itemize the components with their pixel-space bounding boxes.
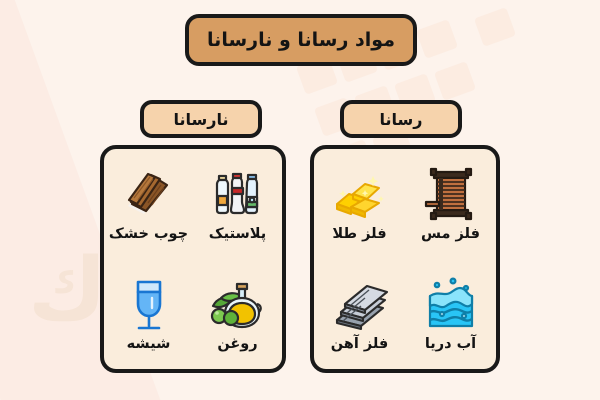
item-label: فلز آهن: [331, 336, 389, 352]
item-label: آب دریا: [425, 336, 476, 352]
sea-water-icon: [420, 276, 482, 334]
insulator-panel: پلاستیک: [100, 145, 286, 373]
item-sea-water: آب دریا: [405, 259, 496, 369]
item-label: پلاستیک: [209, 226, 266, 242]
item-glass: شیشه: [104, 259, 193, 369]
copper-spool-icon: [420, 166, 482, 224]
item-plastic: پلاستیک: [193, 149, 282, 259]
diagram-title-box: مواد رسانا و نارسانا: [185, 14, 417, 66]
page-title: مواد رسانا و نارسانا: [207, 29, 395, 51]
category-header-conductor: رسانا: [340, 100, 462, 138]
item-label: روغن: [217, 336, 257, 352]
category-label-insulator: نارسانا: [174, 110, 229, 129]
item-label: فلز مس: [421, 226, 480, 242]
item-dry-wood: چوب خشک: [104, 149, 193, 259]
gold-bars-icon: [329, 166, 391, 224]
item-iron: فلز آهن: [314, 259, 405, 369]
category-header-insulator: نارسانا: [140, 100, 262, 138]
item-copper: فلز مس: [405, 149, 496, 259]
conductor-panel: فلز مس: [310, 145, 500, 373]
olive-oil-icon: [207, 276, 269, 334]
item-label: شیشه: [127, 336, 171, 352]
plastic-bottles-icon: [207, 166, 269, 224]
item-label: چوب خشک: [109, 226, 188, 242]
wood-planks-icon: [118, 166, 180, 224]
glass-goblet-icon: [118, 276, 180, 334]
item-gold: فلز طلا: [314, 149, 405, 259]
category-label-conductor: رسانا: [380, 110, 423, 129]
item-oil: روغن: [193, 259, 282, 369]
iron-beams-icon: [329, 276, 391, 334]
item-label: فلز طلا: [332, 226, 386, 242]
